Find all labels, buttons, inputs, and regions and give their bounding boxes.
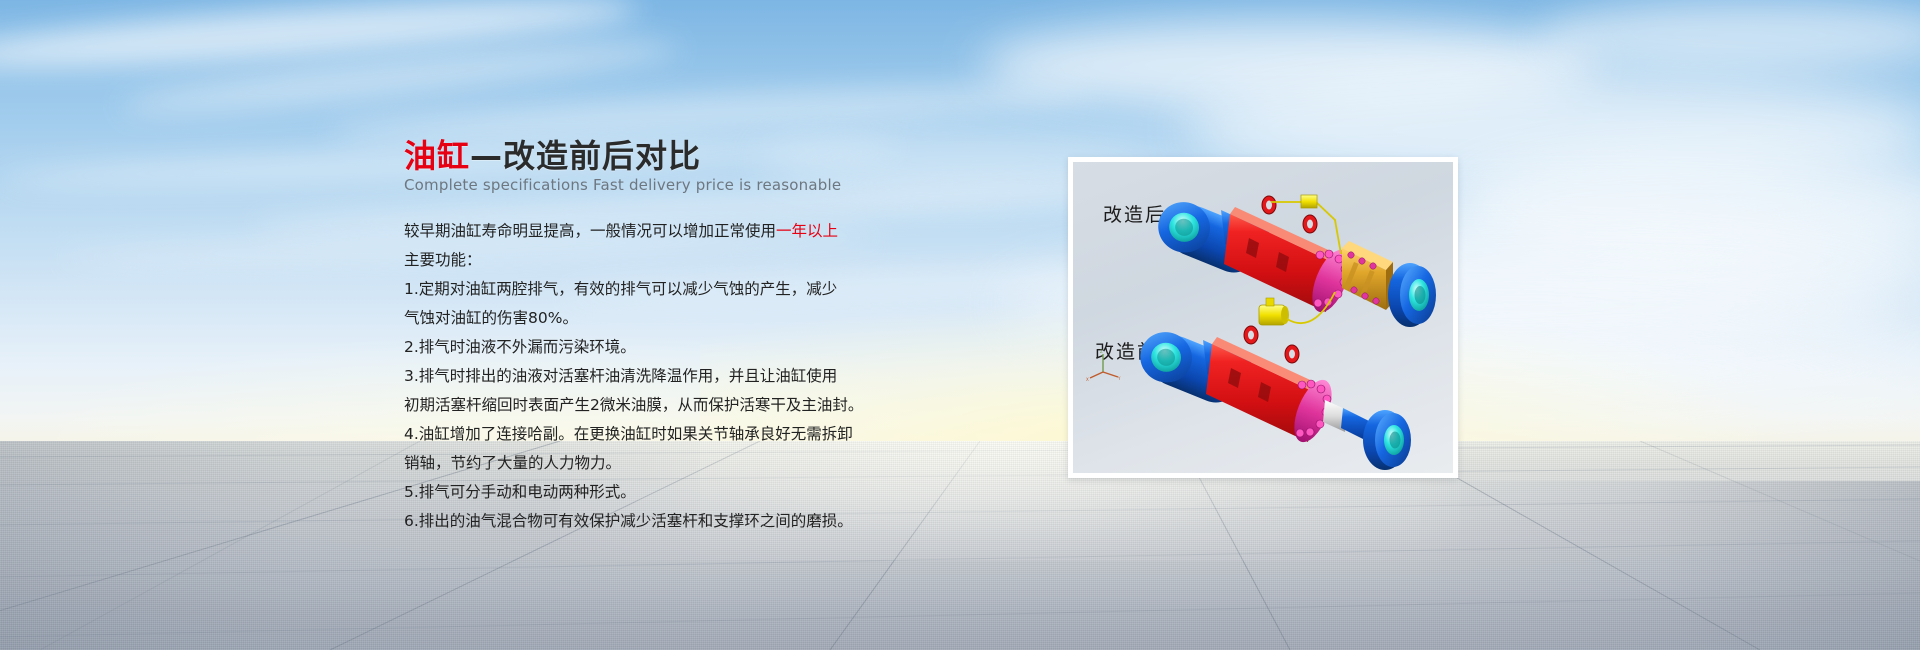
feature-item-6-line-1: 6.排出的油气混合物可有效保护减少活塞杆和支撑环之间的磨损。 [404,507,924,536]
feature-item-3-line-2: 初期活塞杆缩回时表面产生2微米油膜，从而保护活寒干及主油封。 [404,391,924,420]
cylinder-assembly-before [1133,324,1411,470]
feature-item-3-line-1: 3.排气时排出的油液对活塞杆油清洗降温作用，并且让油缸使用 [404,362,924,391]
svg-text:X: X [1086,377,1089,382]
feature-description: 较早期油缸寿命明显提高，一般情况可以增加正常使用一年以上 主要功能： 1.定期对… [404,217,924,536]
intro-highlight: 一年以上 [776,222,838,240]
rod-eye-after [1388,263,1436,327]
intro-line: 较早期油缸寿命明显提高，一般情况可以增加正常使用一年以上 [404,217,924,246]
page-title-rest: —改造前后对比 [470,137,701,175]
svg-text:Y: Y [1117,376,1121,381]
page-title-highlight: 油缸 [404,137,470,175]
feature-item-5-line-1: 5.排气可分手动和电动两种形式。 [404,478,924,507]
product-diagram-panel[interactable]: 改造后 改造前 [1068,157,1458,478]
feature-item-2-line-1: 2.排气时油液不外漏而污染环境。 [404,333,924,362]
svg-text:Z: Z [1100,349,1103,354]
feature-item-1-line-2: 气蚀对油缸的伤害80%。 [404,304,924,333]
hydraulic-cylinder-diagram: Z X Y [1073,162,1453,473]
page-title: 油缸—改造前后对比 [404,131,701,177]
cylinder-assembly-after [1151,194,1436,327]
feature-item-4-line-1: 4.油缸增加了连接哈副。在更换油缸时如果关节轴承良好无需拆卸 [404,420,924,449]
page-subtitle: Complete specifications Fast delivery pr… [404,176,841,194]
rod-eye-before [1363,410,1411,470]
connection-clamp-after [1342,241,1393,310]
feature-item-1-line-1: 1.定期对油缸两腔排气，有效的排气可以减少气蚀的产生，减少 [404,275,924,304]
features-heading: 主要功能： [404,246,924,275]
feature-item-4-line-2: 销轴，节约了大量的人力物力。 [404,449,924,478]
coordinate-axis-icon: Z X Y [1086,349,1121,382]
banner-content: 油缸—改造前后对比 Complete specifications Fast d… [0,0,1920,650]
intro-text: 较早期油缸寿命明显提高，一般情况可以增加正常使用 [404,222,776,240]
